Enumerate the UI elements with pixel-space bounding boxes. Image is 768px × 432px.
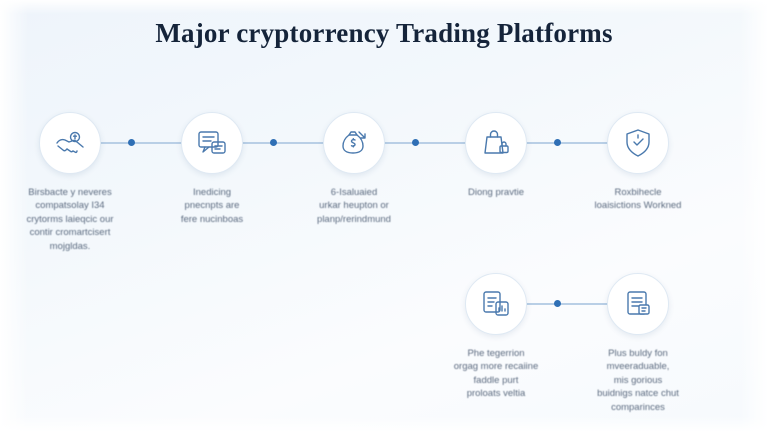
node-4-caption: Diong pravtie (434, 186, 558, 199)
node-1-caption: Birsbacte y neveres compatsolay I34 cryt… (8, 186, 132, 253)
infographic-canvas: Major cryptorrency Trading Platforms Bir… (0, 0, 768, 432)
node-2-caption: Inedicing pnecnpts are fere nucinboas (150, 186, 274, 226)
document-chart-icon (479, 287, 513, 321)
node-4[interactable]: Diong pravtie (434, 112, 558, 199)
node-5-bubble[interactable] (607, 112, 669, 174)
money-bag-chart-icon (337, 126, 371, 160)
node-6-bubble[interactable] (465, 273, 527, 335)
node-1[interactable]: Birsbacte y neveres compatsolay I34 cryt… (8, 112, 132, 253)
node-3[interactable]: 6-Isaluaied urkar heupton or planp/rerin… (292, 112, 416, 226)
node-3-caption: 6-Isaluaied urkar heupton or planp/rerin… (292, 186, 416, 226)
file-list-icon (621, 287, 655, 321)
chat-document-icon (195, 126, 229, 160)
edge-fade-top (0, 0, 768, 14)
node-6[interactable]: Phe tegerrion orgag more recaiine faddle… (434, 273, 558, 401)
shield-check-icon (621, 126, 655, 160)
node-3-bubble[interactable] (323, 112, 385, 174)
shopping-bag-lock-icon (479, 126, 513, 160)
node-5-caption: Roxbihecle loaisictions Workned (576, 186, 700, 213)
handshake-coin-icon (53, 126, 87, 160)
node-2[interactable]: Inedicing pnecnpts are fere nucinboas (150, 112, 274, 226)
node-5[interactable]: Roxbihecle loaisictions Workned (576, 112, 700, 213)
node-4-bubble[interactable] (465, 112, 527, 174)
node-7[interactable]: Plus buldy fon mveeraduable, mis gorious… (576, 273, 700, 414)
node-6-caption: Phe tegerrion orgag more recaiine faddle… (434, 347, 558, 401)
node-2-bubble[interactable] (181, 112, 243, 174)
edge-fade-bottom (0, 416, 768, 432)
edge-fade-right (740, 0, 768, 432)
node-7-caption: Plus buldy fon mveeraduable, mis gorious… (576, 347, 700, 414)
page-title: Major cryptorrency Trading Platforms (0, 18, 768, 49)
node-1-bubble[interactable] (39, 112, 101, 174)
node-7-bubble[interactable] (607, 273, 669, 335)
